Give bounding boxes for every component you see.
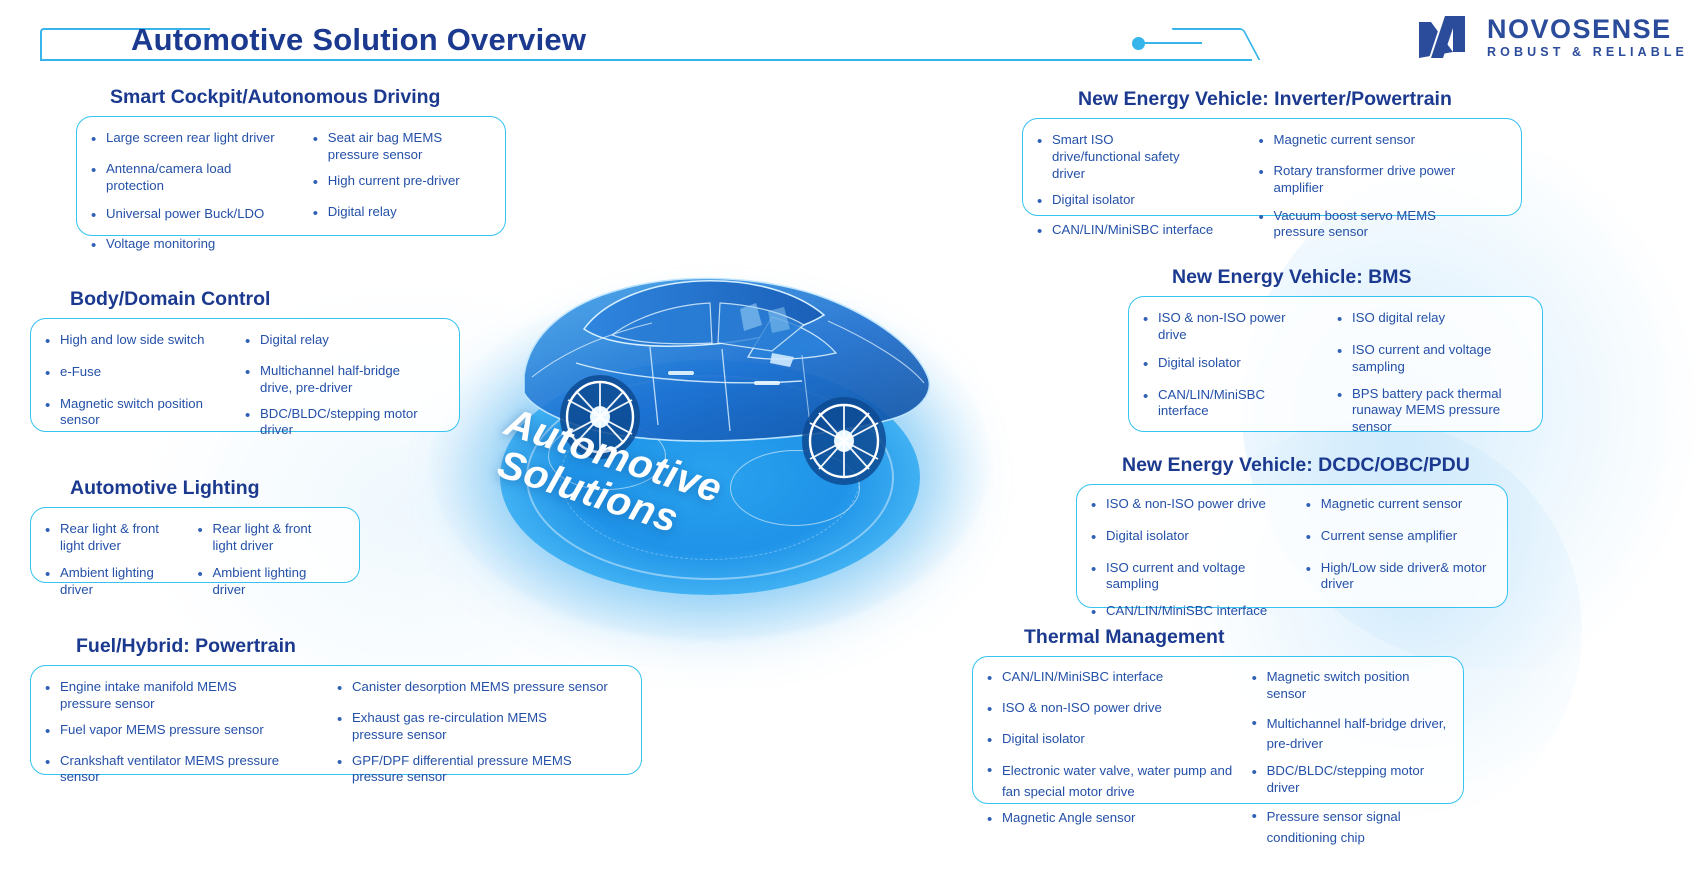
- bullet-icon: •: [1091, 603, 1106, 623]
- list-item-label: Seat air bag MEMS pressure sensor: [328, 130, 456, 164]
- list-item: • Magnetic switch position sensor: [45, 396, 245, 430]
- bullet-icon: •: [337, 753, 352, 773]
- bullet-icon: •: [197, 565, 212, 585]
- bullet-icon: •: [987, 810, 1002, 830]
- card-column-left: • Smart ISO drive/functional safety driv…: [1037, 132, 1259, 203]
- section-automotive-lighting: Automotive Lighting • Rear light & front…: [30, 477, 360, 583]
- section-title-nev-inverter-powertrain: New Energy Vehicle: Inverter/Powertrain: [1022, 88, 1522, 111]
- list-item-label: Ambient lighting driver: [212, 565, 317, 599]
- list-item-label: Digital relay: [328, 204, 397, 221]
- bullet-icon: •: [1259, 132, 1274, 152]
- list-item: • BDC/BLDC/stepping motor driver: [245, 406, 445, 440]
- bullet-icon: •: [1037, 132, 1052, 152]
- card-thermal-management: • CAN/LIN/MiniSBC interface • ISO & non-…: [972, 656, 1464, 804]
- bullet-icon: •: [45, 565, 60, 585]
- card-body-domain-control: • High and low side switch • e-Fuse • Ma…: [30, 318, 460, 432]
- list-item-label: BDC/BLDC/stepping motor driver: [260, 406, 425, 440]
- section-title-smart-cockpit: Smart Cockpit/Autonomous Driving: [76, 86, 506, 109]
- list-item-label: Antenna/camera load protection: [106, 161, 256, 195]
- list-item: • ISO & non-ISO power drive: [1091, 496, 1306, 516]
- bullet-icon: •: [91, 206, 106, 226]
- card-fuel-hybrid-powertrain: • Engine intake manifold MEMS pressure s…: [30, 665, 642, 775]
- list-item: • Crankshaft ventilator MEMS pressure se…: [45, 753, 337, 787]
- bullet-icon: •: [1252, 807, 1267, 827]
- bullet-icon: •: [245, 363, 260, 383]
- list-item: • Fuel vapor MEMS pressure sensor: [45, 722, 337, 742]
- card-column-left: • CAN/LIN/MiniSBC interface • ISO & non-…: [987, 669, 1252, 791]
- list-item-label: ISO digital relay: [1352, 310, 1445, 327]
- card-column-left: • High and low side switch • e-Fuse • Ma…: [45, 332, 245, 419]
- logo-text-block: NOVOSENSE ROBUST & RELIABLE: [1487, 16, 1688, 59]
- novosense-logo-mark-icon: [1415, 14, 1477, 60]
- list-item: • High and low side switch: [45, 332, 245, 352]
- list-item-label: Fuel vapor MEMS pressure sensor: [60, 722, 264, 739]
- bullet-icon: •: [45, 396, 60, 416]
- section-nev-inverter-powertrain: New Energy Vehicle: Inverter/Powertrain …: [1022, 88, 1522, 216]
- card-column-right: • Magnetic switch position sensor • Mult…: [1252, 669, 1449, 791]
- list-item: • Canister desorption MEMS pressure sens…: [337, 679, 627, 699]
- list-item-label: ISO & non-ISO power drive: [1002, 700, 1162, 717]
- bullet-icon: •: [313, 204, 328, 224]
- list-item: • Digital isolator: [1091, 528, 1306, 548]
- list-item: • ISO & non-ISO power drive: [987, 700, 1252, 720]
- list-item: • BPS battery pack thermal runaway MEMS …: [1337, 386, 1527, 437]
- list-item-label: Digital isolator: [1052, 192, 1135, 209]
- list-item: • Vacuum boost servo MEMS pressure senso…: [1259, 208, 1507, 242]
- card-column-right: • Magnetic current sensor • Rotary trans…: [1259, 132, 1507, 203]
- list-item-label: Exhaust gas re-circulation MEMS pressure…: [352, 710, 590, 744]
- section-title-nev-dcdc-obc-pdu: New Energy Vehicle: DCDC/OBC/PDU: [1076, 454, 1508, 477]
- list-item-label: Magnetic current sensor: [1274, 132, 1415, 149]
- list-item-label: Pressure sensor signal conditioning chip: [1267, 807, 1422, 848]
- list-item: • Large screen rear light driver: [91, 130, 313, 150]
- list-item: • Magnetic current sensor: [1259, 132, 1507, 152]
- list-item-label: Ambient lighting driver: [60, 565, 165, 599]
- bullet-icon: •: [1337, 386, 1352, 406]
- list-item: • Digital relay: [313, 204, 491, 224]
- header-divider-rule: [40, 59, 1252, 61]
- bullet-icon: •: [987, 731, 1002, 751]
- bullet-icon: •: [1337, 342, 1352, 362]
- bullet-icon: •: [1259, 163, 1274, 183]
- list-item: • Antenna/camera load protection: [91, 161, 313, 195]
- list-item-label: ISO current and voltage sampling: [1352, 342, 1492, 376]
- list-item-label: CAN/LIN/MiniSBC interface: [1052, 222, 1213, 239]
- section-title-body-domain-control: Body/Domain Control: [30, 288, 460, 311]
- bullet-icon: •: [45, 722, 60, 742]
- center-car-graphic: Automotive Solutions: [430, 150, 990, 670]
- list-item-label: CAN/LIN/MiniSBC interface: [1158, 387, 1268, 421]
- list-item-label: CAN/LIN/MiniSBC interface: [1106, 603, 1267, 620]
- list-item: • Seat air bag MEMS pressure sensor: [313, 130, 491, 164]
- list-item: • Rotary transformer drive power amplifi…: [1259, 163, 1507, 197]
- list-item-label: Canister desorption MEMS pressure sensor: [352, 679, 608, 696]
- list-item-label: ISO & non-ISO power drive: [1106, 496, 1266, 513]
- card-column-right: • Magnetic current sensor • Current sens…: [1306, 496, 1493, 595]
- list-item-label: Vacuum boost servo MEMS pressure sensor: [1274, 208, 1484, 242]
- card-column-right: • Digital relay • Multichannel half-brid…: [245, 332, 445, 419]
- section-thermal-management: Thermal Management • CAN/LIN/MiniSBC int…: [972, 626, 1464, 804]
- list-item: • Magnetic Angle sensor: [987, 810, 1252, 830]
- bullet-icon: •: [1306, 496, 1321, 516]
- card-column-left: • Engine intake manifold MEMS pressure s…: [45, 679, 337, 762]
- bullet-icon: •: [1306, 528, 1321, 548]
- bullet-icon: •: [91, 236, 106, 256]
- list-item-label: e-Fuse: [60, 364, 101, 381]
- card-column-right: • Canister desorption MEMS pressure sens…: [337, 679, 627, 762]
- bullet-icon: •: [245, 332, 260, 352]
- list-item: • Smart ISO drive/functional safety driv…: [1037, 132, 1259, 183]
- bullet-icon: •: [1091, 528, 1106, 548]
- list-item: • Digital isolator: [1143, 355, 1337, 375]
- list-item: • ISO current and voltage sampling: [1337, 342, 1527, 376]
- list-item-label: Magnetic Angle sensor: [1002, 810, 1135, 827]
- list-item-label: Current sense amplifier: [1321, 528, 1457, 545]
- list-item: • e-Fuse: [45, 364, 245, 384]
- card-column-right: • Seat air bag MEMS pressure sensor • Hi…: [313, 130, 491, 223]
- list-item: • ISO current and voltage sampling: [1091, 560, 1306, 594]
- page-title: Automotive Solution Overview: [131, 22, 586, 58]
- card-smart-cockpit: • Large screen rear light driver • Anten…: [76, 116, 506, 236]
- bullet-icon: •: [45, 753, 60, 773]
- bullet-icon: •: [91, 161, 106, 181]
- bullet-icon: •: [197, 521, 212, 541]
- bullet-icon: •: [1091, 496, 1106, 516]
- list-item: • GPF/DPF differential pressure MEMS pre…: [337, 753, 627, 787]
- bullet-icon: •: [987, 669, 1002, 689]
- list-item: • ISO & non-ISO power drive: [1143, 310, 1337, 344]
- title-bracket-right: [1171, 28, 1260, 60]
- card-column-right: • Rear light & front light driver • Ambi…: [197, 521, 345, 570]
- list-item: • CAN/LIN/MiniSBC interface: [1037, 222, 1259, 242]
- list-item: • CAN/LIN/MiniSBC interface: [987, 669, 1252, 689]
- list-item-label: Magnetic current sensor: [1321, 496, 1462, 513]
- section-fuel-hybrid-powertrain: Fuel/Hybrid: Powertrain • Engine intake …: [30, 635, 642, 775]
- list-item: • BDC/BLDC/stepping motor driver: [1252, 763, 1449, 797]
- list-item-label: Crankshaft ventilator MEMS pressure sens…: [60, 753, 298, 787]
- list-item-label: Multichannel half-bridge drive, pre-driv…: [260, 363, 430, 397]
- novosense-logo: NOVOSENSE ROBUST & RELIABLE: [1415, 14, 1688, 60]
- list-item-label: Rotary transformer drive power amplifier: [1274, 163, 1507, 197]
- list-item-label: Electronic water valve, water pump and f…: [1002, 761, 1234, 802]
- list-item-label: GPF/DPF differential pressure MEMS press…: [352, 753, 594, 787]
- list-item: • Multichannel half-bridge driver, pre-d…: [1252, 714, 1449, 755]
- logo-tagline: ROBUST & RELIABLE: [1487, 46, 1688, 59]
- card-column-left: • Rear light & front light driver • Ambi…: [45, 521, 197, 570]
- section-title-fuel-hybrid-powertrain: Fuel/Hybrid: Powertrain: [30, 635, 642, 658]
- section-title-nev-bms: New Energy Vehicle: BMS: [1128, 266, 1543, 289]
- bullet-icon: •: [1252, 763, 1267, 783]
- list-item: • Magnetic switch position sensor: [1252, 669, 1449, 703]
- bullet-icon: •: [1143, 355, 1158, 375]
- bullet-icon: •: [1143, 387, 1158, 407]
- list-item: • Digital isolator: [987, 731, 1252, 751]
- section-smart-cockpit: Smart Cockpit/Autonomous Driving • Large…: [76, 86, 506, 236]
- card-nev-inverter-powertrain: • Smart ISO drive/functional safety driv…: [1022, 118, 1522, 216]
- list-item-label: CAN/LIN/MiniSBC interface: [1002, 669, 1163, 686]
- list-item-label: Rear light & front light driver: [60, 521, 165, 555]
- list-item-label: Smart ISO drive/functional safety driver: [1052, 132, 1200, 183]
- list-item-label: High/Low side driver& motor driver: [1321, 560, 1487, 594]
- list-item-label: Voltage monitoring: [106, 236, 215, 253]
- list-item: • Digital relay: [245, 332, 445, 352]
- list-item-label: ISO & non-ISO power drive: [1158, 310, 1288, 344]
- section-nev-bms: New Energy Vehicle: BMS • ISO & non-ISO …: [1128, 266, 1543, 432]
- list-item-label: Magnetic switch position sensor: [60, 396, 205, 430]
- list-item: • Universal power Buck/LDO: [91, 206, 313, 226]
- list-item: • Pressure sensor signal conditioning ch…: [1252, 807, 1449, 848]
- list-item: • Electronic water valve, water pump and…: [987, 761, 1252, 802]
- bullet-icon: •: [1037, 192, 1052, 212]
- list-item: • High current pre-driver: [313, 173, 491, 193]
- list-item-label: BPS battery pack thermal runaway MEMS pr…: [1352, 386, 1504, 437]
- list-item-label: Multichannel half-bridge driver, pre-dri…: [1267, 714, 1447, 755]
- bullet-icon: •: [1259, 208, 1274, 228]
- bullet-icon: •: [45, 332, 60, 352]
- list-item: • Ambient lighting driver: [45, 565, 197, 599]
- list-item-label: Digital relay: [260, 332, 329, 349]
- card-column-right: • ISO digital relay • ISO current and vo…: [1337, 310, 1527, 419]
- list-item: • Ambient lighting driver: [197, 565, 345, 599]
- list-item: • Rear light & front light driver: [197, 521, 345, 555]
- card-column-left: • ISO & non-ISO power drive • Digital is…: [1091, 496, 1306, 595]
- list-item: • Current sense amplifier: [1306, 528, 1493, 548]
- page-header: Automotive Solution Overview NOVOSENSE R…: [0, 0, 1702, 78]
- list-item: • Voltage monitoring: [91, 236, 313, 256]
- list-item-label: Large screen rear light driver: [106, 130, 275, 147]
- logo-wordmark: NOVOSENSE: [1487, 16, 1688, 43]
- bullet-icon: •: [1252, 669, 1267, 689]
- bullet-icon: •: [987, 761, 1002, 781]
- list-item-label: Magnetic switch position sensor: [1267, 669, 1449, 703]
- bullet-icon: •: [337, 679, 352, 699]
- bullet-icon: •: [337, 710, 352, 730]
- card-automotive-lighting: • Rear light & front light driver • Ambi…: [30, 507, 360, 583]
- list-item-label: Universal power Buck/LDO: [106, 206, 264, 223]
- list-item: • CAN/LIN/MiniSBC interface: [1143, 387, 1337, 421]
- list-item-label: Engine intake manifold MEMS pressure sen…: [60, 679, 260, 713]
- list-item-label: Digital isolator: [1002, 731, 1085, 748]
- section-body-domain-control: Body/Domain Control • High and low side …: [30, 288, 460, 432]
- list-item: • High/Low side driver& motor driver: [1306, 560, 1493, 594]
- list-item-label: ISO current and voltage sampling: [1106, 560, 1246, 594]
- card-column-left: • ISO & non-ISO power drive • Digital is…: [1143, 310, 1337, 419]
- bullet-icon: •: [987, 700, 1002, 720]
- bullet-icon: •: [313, 173, 328, 193]
- section-nev-dcdc-obc-pdu: New Energy Vehicle: DCDC/OBC/PDU • ISO &…: [1076, 454, 1508, 608]
- bullet-icon: •: [1143, 310, 1158, 330]
- list-item-label: High current pre-driver: [328, 173, 460, 190]
- bullet-icon: •: [1037, 222, 1052, 242]
- card-column-left: • Large screen rear light driver • Anten…: [91, 130, 313, 223]
- list-item: • CAN/LIN/MiniSBC interface: [1091, 603, 1306, 623]
- bullet-icon: •: [313, 130, 328, 150]
- list-item-label: BDC/BLDC/stepping motor driver: [1267, 763, 1449, 797]
- bullet-icon: •: [245, 406, 260, 426]
- header-accent-line: [1144, 42, 1202, 44]
- bullet-icon: •: [91, 130, 106, 150]
- list-item-label: Rear light & front light driver: [212, 521, 317, 555]
- bullet-icon: •: [45, 364, 60, 384]
- section-title-thermal-management: Thermal Management: [972, 626, 1464, 649]
- list-item: • Rear light & front light driver: [45, 521, 197, 555]
- list-item: • Engine intake manifold MEMS pressure s…: [45, 679, 337, 713]
- list-item: • Digital isolator: [1037, 192, 1259, 212]
- list-item-label: Digital isolator: [1106, 528, 1189, 545]
- bullet-icon: •: [45, 679, 60, 699]
- bullet-icon: •: [1337, 310, 1352, 330]
- card-nev-dcdc-obc-pdu: • ISO & non-ISO power drive • Digital is…: [1076, 484, 1508, 608]
- bullet-icon: •: [1252, 714, 1267, 734]
- list-item-label: Digital isolator: [1158, 355, 1241, 372]
- card-nev-bms: • ISO & non-ISO power drive • Digital is…: [1128, 296, 1543, 432]
- section-title-automotive-lighting: Automotive Lighting: [30, 477, 360, 500]
- list-item: • Multichannel half-bridge drive, pre-dr…: [245, 363, 445, 397]
- bullet-icon: •: [1306, 560, 1321, 580]
- list-item: • Exhaust gas re-circulation MEMS pressu…: [337, 710, 627, 744]
- bullet-icon: •: [45, 521, 60, 541]
- list-item: • ISO digital relay: [1337, 310, 1527, 330]
- list-item: • Magnetic current sensor: [1306, 496, 1493, 516]
- list-item-label: High and low side switch: [60, 332, 204, 349]
- bullet-icon: •: [1091, 560, 1106, 580]
